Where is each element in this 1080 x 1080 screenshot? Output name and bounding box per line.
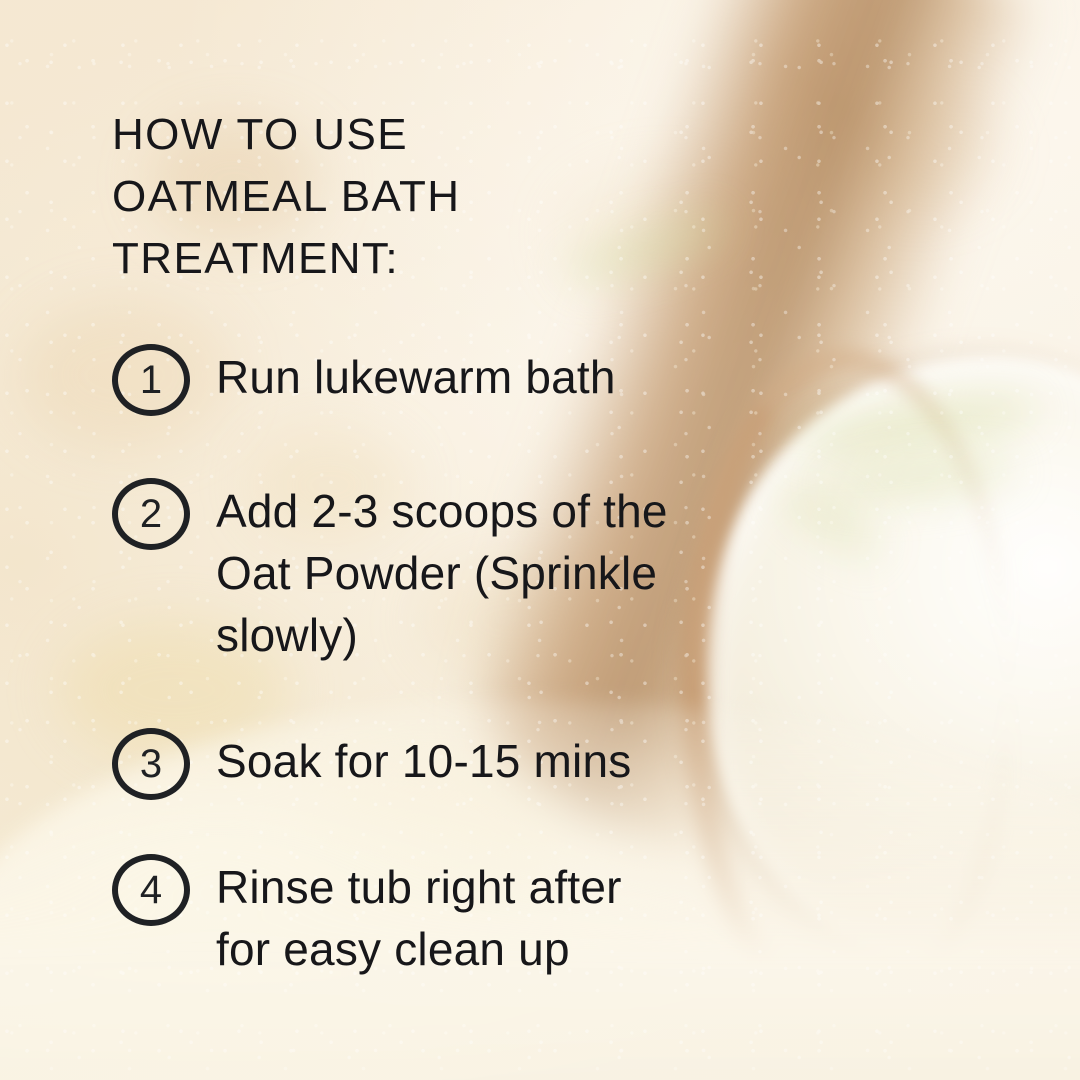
list-item: 4 Rinse tub right after for easy clean u… (112, 854, 732, 980)
step-number-badge: 3 (112, 728, 190, 800)
list-item: 3 Soak for 10-15 mins (112, 728, 732, 800)
step-number-badge: 1 (112, 344, 190, 416)
step-text: Rinse tub right after for easy clean up (216, 854, 622, 980)
step-text: Run lukewarm bath (216, 344, 616, 408)
instruction-card: HOW TO USE OATMEAL BATH TREATMENT: 1 Run… (0, 0, 1080, 1080)
instruction-content: HOW TO USE OATMEAL BATH TREATMENT: 1 Run… (112, 0, 732, 980)
step-text: Add 2-3 scoops of the Oat Powder (Sprink… (216, 478, 668, 666)
steps-list: 1 Run lukewarm bath 2 Add 2-3 scoops of … (112, 344, 732, 980)
list-item: 1 Run lukewarm bath (112, 344, 732, 416)
step-text: Soak for 10-15 mins (216, 728, 631, 792)
step-number-badge: 2 (112, 478, 190, 550)
list-item: 2 Add 2-3 scoops of the Oat Powder (Spri… (112, 478, 732, 666)
step-number-badge: 4 (112, 854, 190, 926)
page-title: HOW TO USE OATMEAL BATH TREATMENT: (112, 0, 732, 290)
